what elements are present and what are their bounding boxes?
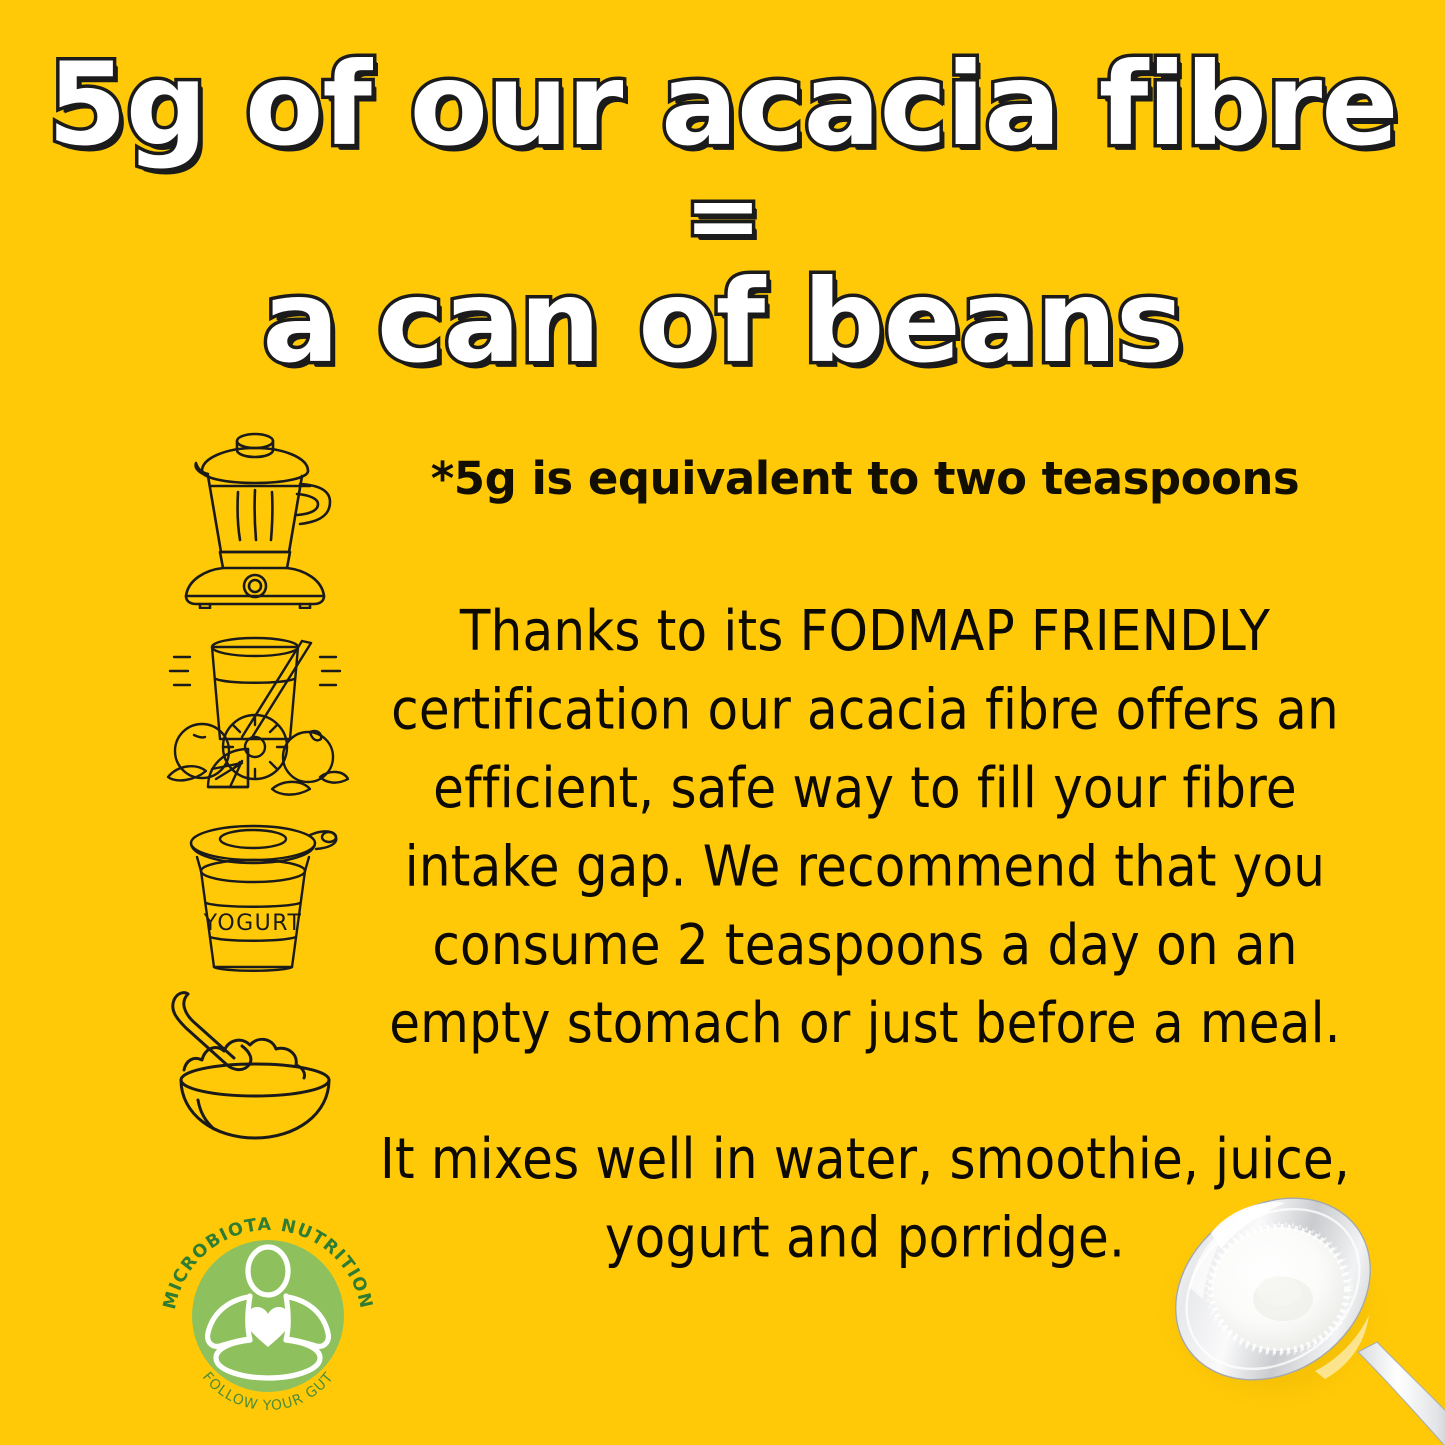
- body-paragraph-2: It mixes well in water, smoothie, juice,…: [360, 1120, 1370, 1277]
- brand-logo: MICROBIOTA NUTRITION FOLLOW YOUR GUT: [152, 1196, 384, 1428]
- subtitle-note: *5g is equivalent to two teaspoons: [360, 440, 1370, 504]
- headline: 5g of our acacia fibre = a can of beans: [0, 48, 1445, 379]
- juice-glass-icon: [150, 619, 360, 809]
- yogurt-label-text: YOGURT: [203, 911, 303, 936]
- blender-icon: [150, 424, 360, 609]
- poster-canvas: 5g of our acacia fibre = a can of beans: [0, 0, 1445, 1445]
- spoon-handle: [1358, 1342, 1445, 1445]
- body-paragraph-1: Thanks to its FODMAP FRIENDLY certificat…: [360, 592, 1370, 1062]
- headline-equals-sign: =: [0, 172, 1445, 259]
- porridge-bowl-icon: [150, 988, 360, 1148]
- yogurt-cup-icon: YOGURT: [150, 817, 360, 982]
- headline-line-2: a can of beans: [0, 265, 1445, 379]
- headline-line-1: 5g of our acacia fibre: [0, 48, 1445, 162]
- text-column: *5g is equivalent to two teaspoons Thank…: [360, 440, 1370, 1260]
- illustration-column: YOGURT: [150, 424, 360, 1148]
